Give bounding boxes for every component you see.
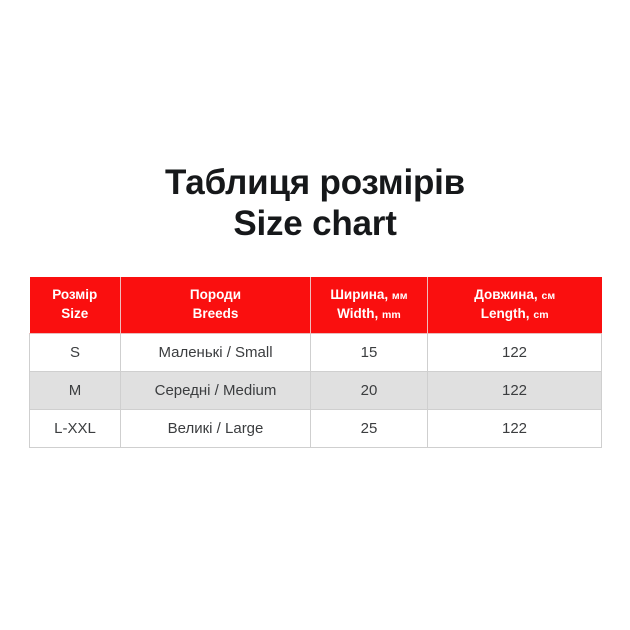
table-header: Розмір Size Породи Breeds	[30, 277, 602, 334]
page-title-english: Size chart	[0, 204, 630, 245]
column-header-length-uk: Довжина, см	[432, 286, 598, 305]
cell-size: L-XXL	[30, 410, 121, 448]
column-header-width-en: Width, mm	[315, 305, 423, 324]
page-title-ukrainian: Таблиця розмірів	[0, 163, 630, 204]
column-header-size-en: Size	[34, 305, 117, 324]
cell-size: M	[30, 372, 121, 410]
table-row: M Середні / Medium 20 122	[30, 372, 602, 410]
cell-length: 122	[428, 334, 602, 372]
cell-size: S	[30, 334, 121, 372]
cell-length: 122	[428, 372, 602, 410]
column-header-breeds-en: Breeds	[125, 305, 306, 324]
table-row: L-XXL Великі / Large 25 122	[30, 410, 602, 448]
cell-width: 25	[311, 410, 428, 448]
cell-breeds: Середні / Medium	[121, 372, 311, 410]
size-chart-table: Розмір Size Породи Breeds	[29, 277, 602, 448]
cell-breeds: Великі / Large	[121, 410, 311, 448]
column-header-size-uk: Розмір	[34, 286, 117, 305]
cell-width: 20	[311, 372, 428, 410]
page-title: Таблиця розмірів Size chart	[0, 163, 630, 244]
table-header-row: Розмір Size Породи Breeds	[30, 277, 602, 334]
cell-length: 122	[428, 410, 602, 448]
column-header-size: Розмір Size	[30, 277, 121, 334]
table-row: S Маленькі / Small 15 122	[30, 334, 602, 372]
column-header-breeds-uk: Породи	[125, 286, 306, 305]
column-header-breeds: Породи Breeds	[121, 277, 311, 334]
cell-width: 15	[311, 334, 428, 372]
size-chart-page: Таблиця розмірів Size chart Розмір Size	[0, 0, 630, 630]
column-header-width: Ширина, мм Width, mm	[311, 277, 428, 334]
column-header-length: Довжина, см Length, cm	[428, 277, 602, 334]
table-body: S Маленькі / Small 15 122 M Середні / Me…	[30, 334, 602, 448]
column-header-width-uk: Ширина, мм	[315, 286, 423, 305]
column-header-length-en: Length, cm	[432, 305, 598, 324]
cell-breeds: Маленькі / Small	[121, 334, 311, 372]
